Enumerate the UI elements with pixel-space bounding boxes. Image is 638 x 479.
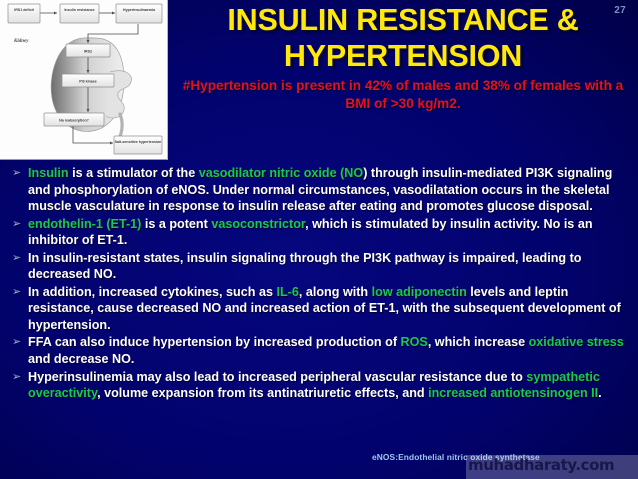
bullet-item: ➢Hyperinsulinemia may also lead to incre…	[6, 369, 630, 402]
highlighted-term: vasodilator nitric oxide (NO	[199, 166, 363, 180]
body-text: is a stimulator of the	[69, 166, 199, 180]
arrow-bullet-icon: ➢	[6, 334, 28, 351]
bullet-item: ➢Insulin is a stimulator of the vasodila…	[6, 165, 630, 215]
title-block: INSULIN RESISTANCE & HYPERTENSION #Hyper…	[172, 2, 634, 112]
highlighted-term: vasoconstrictor	[211, 217, 305, 231]
body-text: In insulin-resistant states, insulin sig…	[28, 251, 582, 282]
body-text: Hyperinsulinemia may also lead to increa…	[28, 370, 526, 384]
page-subtitle: #Hypertension is present in 42% of males…	[172, 77, 634, 112]
body-text: .	[598, 386, 602, 400]
diagram-svg: IRS1 deficit Insulin resistance Hyperins…	[0, 0, 168, 160]
bullet-text: endothelin-1 (ET-1) is a potent vasocons…	[28, 216, 630, 249]
insulin-resistance-kidney-diagram: IRS1 deficit Insulin resistance Hyperins…	[0, 0, 168, 160]
page-title: INSULIN RESISTANCE & HYPERTENSION	[172, 2, 634, 74]
body-text: , which increase	[428, 335, 529, 349]
watermark: muhadharaty.com	[466, 455, 638, 479]
diagram-box-insulin-resistance: Insulin resistance	[60, 4, 99, 23]
arrow-bullet-icon: ➢	[6, 369, 28, 386]
bullet-item: ➢FFA can also induce hypertension by inc…	[6, 334, 630, 367]
diagram-box-pi3-kinase: PI3 kinase	[62, 74, 114, 87]
body-text: , volume expansion from its antinatriure…	[97, 386, 428, 400]
diagram-box-label: Insulin resistance	[64, 8, 94, 12]
diagram-box-label: Hyperinsulinaemia	[123, 8, 156, 12]
diagram-box-salt-sensitive-hypertension: Salt-sensitive hypertension	[114, 136, 162, 154]
kidney-organ-label: Kidney	[13, 39, 29, 44]
bullet-list: ➢Insulin is a stimulator of the vasodila…	[0, 161, 638, 479]
highlighted-term: oxidative stress	[529, 335, 624, 349]
arrow-bullet-icon: ➢	[6, 284, 28, 301]
diagram-box-label: PI3 kinase	[79, 80, 97, 84]
diagram-box-label: IRS1 deficit	[14, 8, 34, 12]
bullet-text: In insulin-resistant states, insulin sig…	[28, 250, 630, 283]
diagram-box-label: IRS2	[84, 50, 92, 54]
highlighted-term: IL-6	[276, 285, 298, 299]
body-text: is a potent	[141, 217, 211, 231]
body-text: FFA can also induce hypertension by incr…	[28, 335, 401, 349]
bullet-text: Hyperinsulinemia may also lead to increa…	[28, 369, 630, 402]
highlighted-term: increased antiotensinogen II	[428, 386, 598, 400]
arrow-bullet-icon: ➢	[6, 250, 28, 267]
bullet-item: ➢ In addition, increased cytokines, such…	[6, 284, 630, 334]
diagram-box-irs2: IRS2	[66, 44, 110, 57]
highlighted-term: Insulin	[28, 166, 69, 180]
body-text: and decrease NO.	[28, 352, 134, 366]
arrow-bullet-icon: ➢	[6, 165, 28, 182]
bullet-item: ➢In insulin-resistant states, insulin si…	[6, 250, 630, 283]
diagram-box-irs1-deficit: IRS1 deficit	[8, 4, 40, 23]
arrow-bullet-icon: ➢	[6, 216, 28, 233]
bullet-text: FFA can also induce hypertension by incr…	[28, 334, 630, 367]
highlighted-term: endothelin-1 (ET-1)	[28, 217, 141, 231]
diagram-box-hyperinsulinaemia: Hyperinsulinaemia	[116, 4, 162, 23]
watermark-text: muhadharaty.com	[468, 456, 614, 474]
bullet-text: In addition, increased cytokines, such a…	[28, 284, 630, 334]
diagram-box-label: Na reabsorption?	[59, 119, 89, 123]
diagram-box-label: Salt-sensitive hypertension	[115, 140, 162, 144]
diagram-box-na-reabsorption: Na reabsorption?	[44, 113, 104, 126]
bullet-text: Insulin is a stimulator of the vasodilat…	[28, 165, 630, 215]
slide-canvas: IRS1 deficit Insulin resistance Hyperins…	[0, 0, 638, 479]
highlighted-term: low adiponectin	[372, 285, 467, 299]
bullet-item: ➢endothelin-1 (ET-1) is a potent vasocon…	[6, 216, 630, 249]
body-text: In addition, increased cytokines, such a…	[28, 285, 276, 299]
highlighted-term: ROS	[401, 335, 428, 349]
body-text: , along with	[299, 285, 372, 299]
